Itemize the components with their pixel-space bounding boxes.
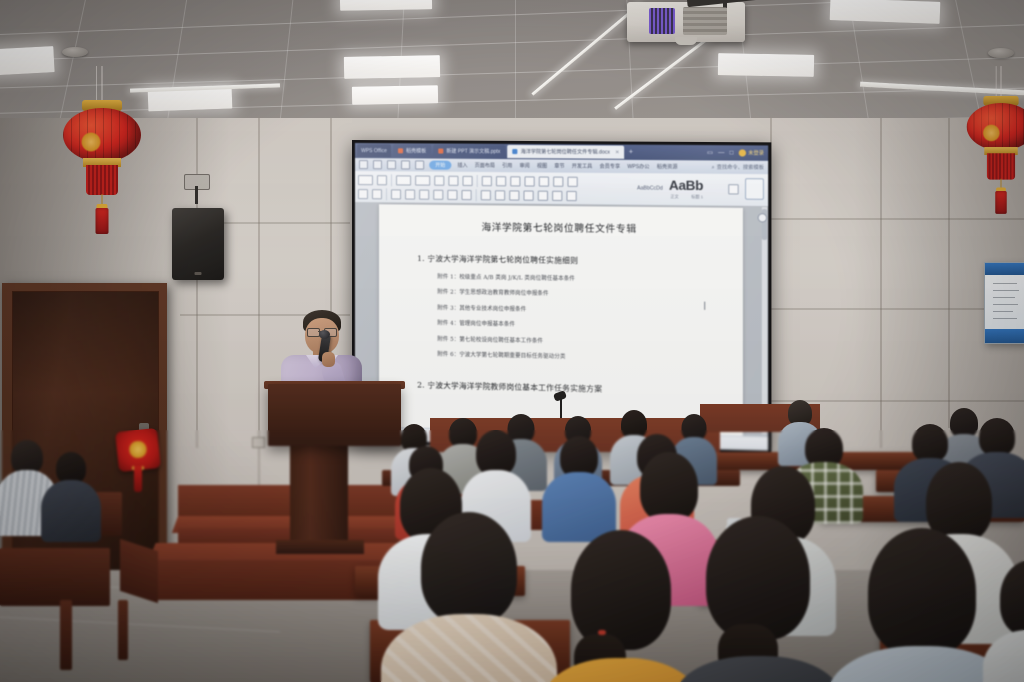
presenter-hand <box>322 352 335 367</box>
text-cursor <box>704 302 705 310</box>
wps-tab-pptx[interactable]: 新建 PPT 演示文稿.pptx <box>433 144 505 158</box>
lantern-tassel <box>987 153 1015 179</box>
chinese-knot-decoration <box>117 430 159 482</box>
decrease-indent-icon[interactable] <box>525 176 535 186</box>
attendee-head <box>421 512 517 624</box>
section-number: 2. <box>417 380 425 389</box>
word-doc-icon <box>513 149 518 154</box>
style-name-heading1: 标题 1 <box>691 194 703 200</box>
attendee-head <box>571 530 671 650</box>
light-strip <box>860 82 1024 96</box>
attendee-head <box>640 452 698 522</box>
lectern-base <box>276 540 364 554</box>
document-title: 海洋学院第七轮岗位聘任文件专辑 <box>399 219 722 237</box>
menu-item-review[interactable]: 审阅 <box>518 162 530 169</box>
bullets-icon[interactable] <box>482 176 492 186</box>
search-icon: ⌕ <box>712 164 715 170</box>
attachment-line: 附件 1：校级重点 A/B 类岗 J/K/L 类岗位聘任基本条件 <box>437 272 722 284</box>
wps-tab-label: 稻壳模板 <box>406 147 426 154</box>
font-color-icon[interactable] <box>447 190 457 200</box>
notice-header-bar <box>985 263 1024 275</box>
attendee-torso <box>41 480 101 542</box>
wps-tab-label: 海洋学院第七轮岗位聘任文件专辑.docx <box>521 148 610 156</box>
quick-styles-gallery[interactable]: AaBbCcDd AaBb <box>637 178 703 192</box>
undo-icon[interactable] <box>387 160 396 169</box>
format-painter-icon[interactable] <box>377 175 387 185</box>
hamburger-icon[interactable] <box>359 160 368 169</box>
account-status[interactable]: 未登录 <box>739 149 764 156</box>
shading-icon[interactable] <box>552 191 562 201</box>
restore-icon[interactable]: ▭ <box>707 149 713 156</box>
lantern-tag <box>995 191 1006 214</box>
bench-row <box>0 548 110 606</box>
search-placeholder: 查找命令、搜索模板 <box>717 164 764 172</box>
recessed-light-panel <box>0 46 55 76</box>
lantern-character <box>983 124 1001 142</box>
hair-tie <box>598 630 606 635</box>
lantern-cord <box>96 66 97 102</box>
document-section-2-heading: 2. 宁波大学海洋学院教师岗位基本工作任务实施方案 <box>417 379 722 397</box>
attachment-line: 附件 6：宁波大学第七轮聘期重要目标任务驱动分类 <box>437 350 722 364</box>
numbering-icon[interactable] <box>496 176 506 186</box>
knot-character <box>128 440 148 459</box>
menu-item-member[interactable]: 会员专享 <box>598 163 621 170</box>
font-size-select[interactable] <box>415 176 430 186</box>
page-navigator-icon[interactable] <box>758 213 767 222</box>
bench-leg <box>60 600 72 670</box>
window-controls[interactable]: ▭ — □ 未登录 <box>707 149 768 157</box>
attachment-line: 附件 5：第七轮校设岗位聘任基本工作条件 <box>437 334 722 347</box>
attendee-head <box>979 418 1015 456</box>
menu-item-start[interactable]: 开始 <box>429 161 451 170</box>
ceiling-projector <box>627 2 745 42</box>
menu-item-docer[interactable]: 稻壳资源 <box>656 163 679 170</box>
recessed-light-panel <box>352 85 438 104</box>
speaker-badge <box>195 272 202 275</box>
redo-icon[interactable] <box>401 160 410 169</box>
style-sample-normal[interactable]: AaBbCcDd <box>637 185 663 191</box>
section-number: 1. <box>417 254 425 263</box>
lectern-column <box>290 440 348 550</box>
bench-leg <box>118 600 128 660</box>
line-spacing-icon[interactable] <box>538 191 548 201</box>
menu-item-view[interactable]: 视图 <box>536 162 548 169</box>
attendee-torso <box>542 472 616 542</box>
light-strip <box>531 3 640 95</box>
section-heading-text: 宁波大学海洋学院第七轮岗位聘任实施细则 <box>427 254 578 265</box>
strikethrough-icon[interactable] <box>433 190 443 200</box>
wps-tab-templates[interactable]: 稻壳模板 <box>393 144 431 157</box>
borders-icon[interactable] <box>566 191 576 201</box>
menu-item-insert[interactable]: 插入 <box>456 162 468 169</box>
print-icon[interactable] <box>415 160 424 169</box>
lantern-tassel <box>86 165 118 195</box>
knot-tail <box>134 466 142 492</box>
attachment-line: 附件 3：其他专业技术岗位申报条件 <box>437 303 722 316</box>
maximize-icon[interactable]: □ <box>730 150 734 156</box>
close-icon[interactable]: ✕ <box>615 149 619 155</box>
align-center-icon[interactable] <box>495 190 505 200</box>
menu-item-references[interactable]: 引用 <box>501 162 513 169</box>
speaker-stem <box>195 186 198 204</box>
lantern-tag <box>96 208 109 234</box>
recessed-light-panel <box>344 55 440 79</box>
shrink-font-icon[interactable] <box>448 176 458 186</box>
ribbon-right-tools[interactable] <box>728 178 764 200</box>
quick-styles-labels: 正文 标题 1 <box>670 194 703 200</box>
lantern-cord <box>996 66 997 98</box>
wall-notice-board <box>984 262 1024 344</box>
menu-item-wpsoffice[interactable]: WPS办公 <box>626 163 650 170</box>
increase-indent-icon[interactable] <box>539 176 549 186</box>
smoke-detector <box>62 47 88 57</box>
attendee-head <box>706 516 810 640</box>
bold-icon[interactable] <box>391 189 401 199</box>
new-tab-button[interactable]: + <box>629 149 633 156</box>
justify-icon[interactable] <box>523 191 533 201</box>
notice-footer-bar <box>985 329 1024 343</box>
style-sample-heading1[interactable]: AaBb <box>669 179 703 193</box>
account-label: 未登录 <box>748 149 764 156</box>
find-replace-icon[interactable] <box>728 184 738 194</box>
italic-icon[interactable] <box>405 189 415 199</box>
ppt-icon <box>438 149 443 154</box>
save-icon[interactable] <box>373 160 382 169</box>
recessed-light-panel <box>830 0 941 24</box>
attendee-head <box>11 440 43 474</box>
grow-font-icon[interactable] <box>434 176 444 186</box>
attendee-head <box>868 528 976 656</box>
menu-item-pagelayout[interactable]: 页面布局 <box>474 162 496 169</box>
lecture-hall-photo: WPS Office 稻壳模板 新建 PPT 演示文稿.pptx 海洋学院第七轮… <box>0 0 1024 682</box>
lantern-character <box>81 132 101 152</box>
paste-icon[interactable] <box>358 175 373 185</box>
cut-icon[interactable] <box>358 189 368 199</box>
smoke-detector <box>988 48 1014 58</box>
wps-tab-label: 新建 PPT 演示文稿.pptx <box>446 148 500 155</box>
wall-outlet <box>252 437 265 448</box>
wps-logo-tab[interactable]: WPS Office <box>357 144 391 157</box>
lantern-body <box>63 108 141 162</box>
lantern-cord <box>102 66 103 102</box>
speaker-cabinet <box>172 208 224 280</box>
attendee-head <box>912 424 948 462</box>
align-right-icon[interactable] <box>509 190 519 200</box>
recessed-light-panel <box>718 53 814 77</box>
multilevel-list-icon[interactable] <box>510 176 520 186</box>
document-section-1-heading: 1. 宁波大学海洋学院第七轮岗位聘任实施细则 <box>417 253 722 268</box>
command-search[interactable]: ⌕ 查找命令、搜索模板 <box>712 164 764 172</box>
sort-icon[interactable] <box>553 177 563 187</box>
menu-item-devtools[interactable]: 开发工具 <box>571 163 594 170</box>
projector-controls <box>683 7 727 35</box>
vertical-scrollbar[interactable] <box>762 207 767 434</box>
projector-vent <box>649 8 675 34</box>
clear-format-icon[interactable] <box>463 176 473 186</box>
underline-icon[interactable] <box>419 190 429 200</box>
show-marks-icon[interactable] <box>567 177 577 187</box>
selection-pane-icon[interactable] <box>745 178 764 200</box>
wps-tab-active-doc[interactable]: 海洋学院第七轮岗位聘任文件专辑.docx ✕ <box>507 145 624 159</box>
recessed-light-panel <box>340 0 432 11</box>
microphone-head <box>319 330 330 339</box>
section-heading-text: 宁波大学海洋学院教师岗位基本工作任务实施方案 <box>427 381 602 394</box>
lantern-cord <box>1001 66 1002 98</box>
doc-icon <box>398 148 403 153</box>
align-left-icon[interactable] <box>481 190 491 200</box>
attachment-line: 附件 4：管理岗位申报基本条件 <box>437 318 722 331</box>
account-avatar-icon <box>739 149 746 156</box>
highlight-icon[interactable] <box>462 190 472 200</box>
lectern <box>268 384 401 446</box>
projector-lens <box>675 37 697 45</box>
attachment-line: 附件 2：学生思想政治教育教师岗位申报条件 <box>437 287 722 300</box>
style-name-normal: 正文 <box>670 194 678 200</box>
copy-icon[interactable] <box>372 189 382 199</box>
menu-item-section[interactable]: 章节 <box>553 162 565 169</box>
font-family-select[interactable] <box>396 175 411 185</box>
minimize-icon[interactable]: — <box>718 150 724 156</box>
